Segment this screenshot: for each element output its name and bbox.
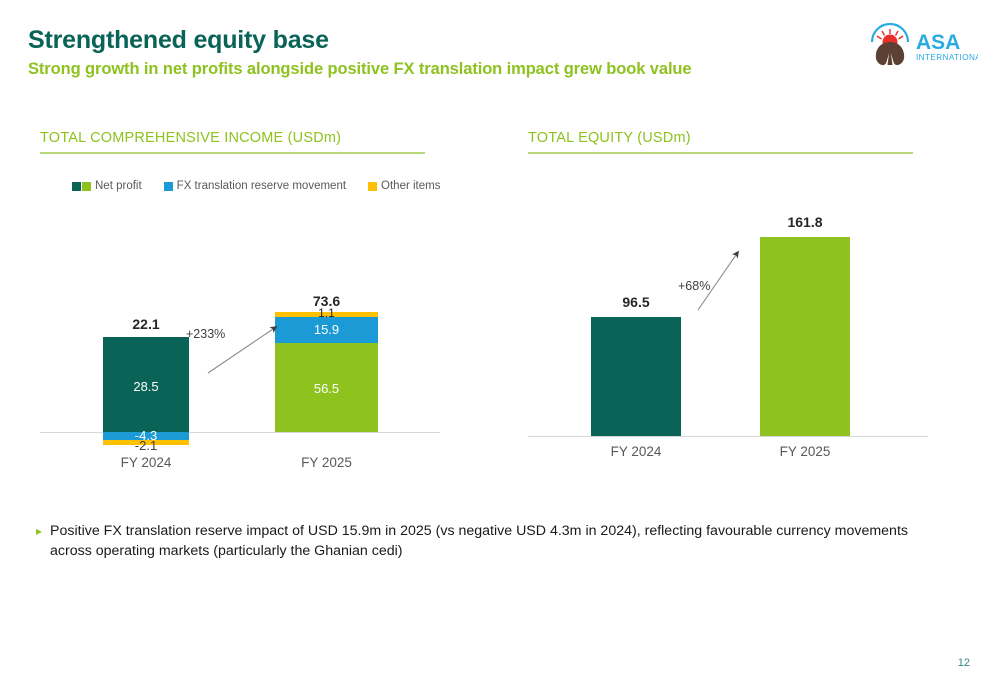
logo-subtext: INTERNATIONAL (916, 53, 978, 62)
legend-label-net-profit: Net profit (95, 180, 142, 192)
segment-label-other-fy2025: 1.1 (275, 306, 378, 320)
segment-label-net-profit-fy2024: 28.5 (103, 380, 189, 393)
panel-right-title: TOTAL EQUITY (USDm) (528, 130, 913, 152)
logo-icon: ASA INTERNATIONAL (866, 20, 978, 70)
triangle-right-icon: ▸ (36, 521, 42, 541)
legend-item-other-items: Other items (368, 180, 440, 192)
bullet-list: ▸ Positive FX translation reserve impact… (36, 521, 941, 561)
growth-arrow-right-icon (688, 242, 778, 332)
bar-fy2025-fx: 15.9 (275, 317, 378, 343)
legend-item-fx-translation: FX translation reserve movement (164, 180, 346, 192)
category-label-fy2024-right: FY 2024 (591, 444, 681, 459)
legend-swatch-other-items (368, 182, 377, 191)
segment-label-other-fy2024: -2.1 (103, 438, 189, 453)
list-item: ▸ Positive FX translation reserve impact… (36, 521, 941, 561)
left-chart-axis (40, 432, 440, 433)
logo-mark-icon (872, 24, 908, 65)
category-label-fy2025-right: FY 2025 (760, 444, 850, 459)
panel-left-rule (40, 152, 425, 154)
segment-label-fx-fy2025: 15.9 (275, 323, 378, 336)
segment-label-net-profit-fy2025: 56.5 (275, 382, 378, 395)
panel-total-comprehensive-income: TOTAL COMPREHENSIVE INCOME (USDm) (40, 130, 425, 154)
legend-item-net-profit: Net profit (72, 180, 142, 192)
panel-right-rule (528, 152, 913, 154)
bar-fy2025-net-profit: 56.5 (275, 343, 378, 432)
legend-swatch-net-profit (72, 182, 91, 191)
chart-total-equity: 96.5 161.8 +68% FY 2024 FY 2025 (528, 200, 928, 480)
right-chart-axis (528, 436, 928, 437)
legend-label-other-items: Other items (381, 180, 440, 192)
total-label-fy2024: 22.1 (103, 316, 189, 332)
logo-wordmark: ASA (916, 31, 960, 54)
value-label-fy2025-equity: 161.8 (760, 214, 850, 230)
category-label-fy2025-left: FY 2025 (275, 455, 378, 470)
page-subtitle: Strong growth in net profits alongside p… (28, 60, 692, 79)
page-title: Strengthened equity base (28, 26, 329, 55)
bar-fy2024-equity (591, 317, 681, 436)
legend-swatch-fx-translation (164, 182, 173, 191)
bar-fy2024-net-profit: 28.5 (103, 337, 189, 432)
bullet-text: Positive FX translation reserve impact o… (50, 521, 941, 561)
chart-legend: Net profit FX translation reserve moveme… (72, 180, 440, 192)
panel-left-title: TOTAL COMPREHENSIVE INCOME (USDm) (40, 130, 425, 152)
value-label-fy2024-equity: 96.5 (591, 294, 681, 310)
legend-label-fx-translation: FX translation reserve movement (177, 180, 346, 192)
category-label-fy2024-left: FY 2024 (103, 455, 189, 470)
growth-arrow-left-icon (200, 317, 290, 377)
slide: Strengthened equity base Strong growth i… (0, 0, 1000, 685)
page-number: 12 (958, 657, 970, 669)
chart-total-comprehensive-income: 28.5 22.1 -4.3 -2.1 15.9 56.5 73.6 1.1 +… (40, 205, 440, 480)
asa-international-logo: ASA INTERNATIONAL (866, 20, 978, 70)
panel-total-equity: TOTAL EQUITY (USDm) (528, 130, 913, 154)
